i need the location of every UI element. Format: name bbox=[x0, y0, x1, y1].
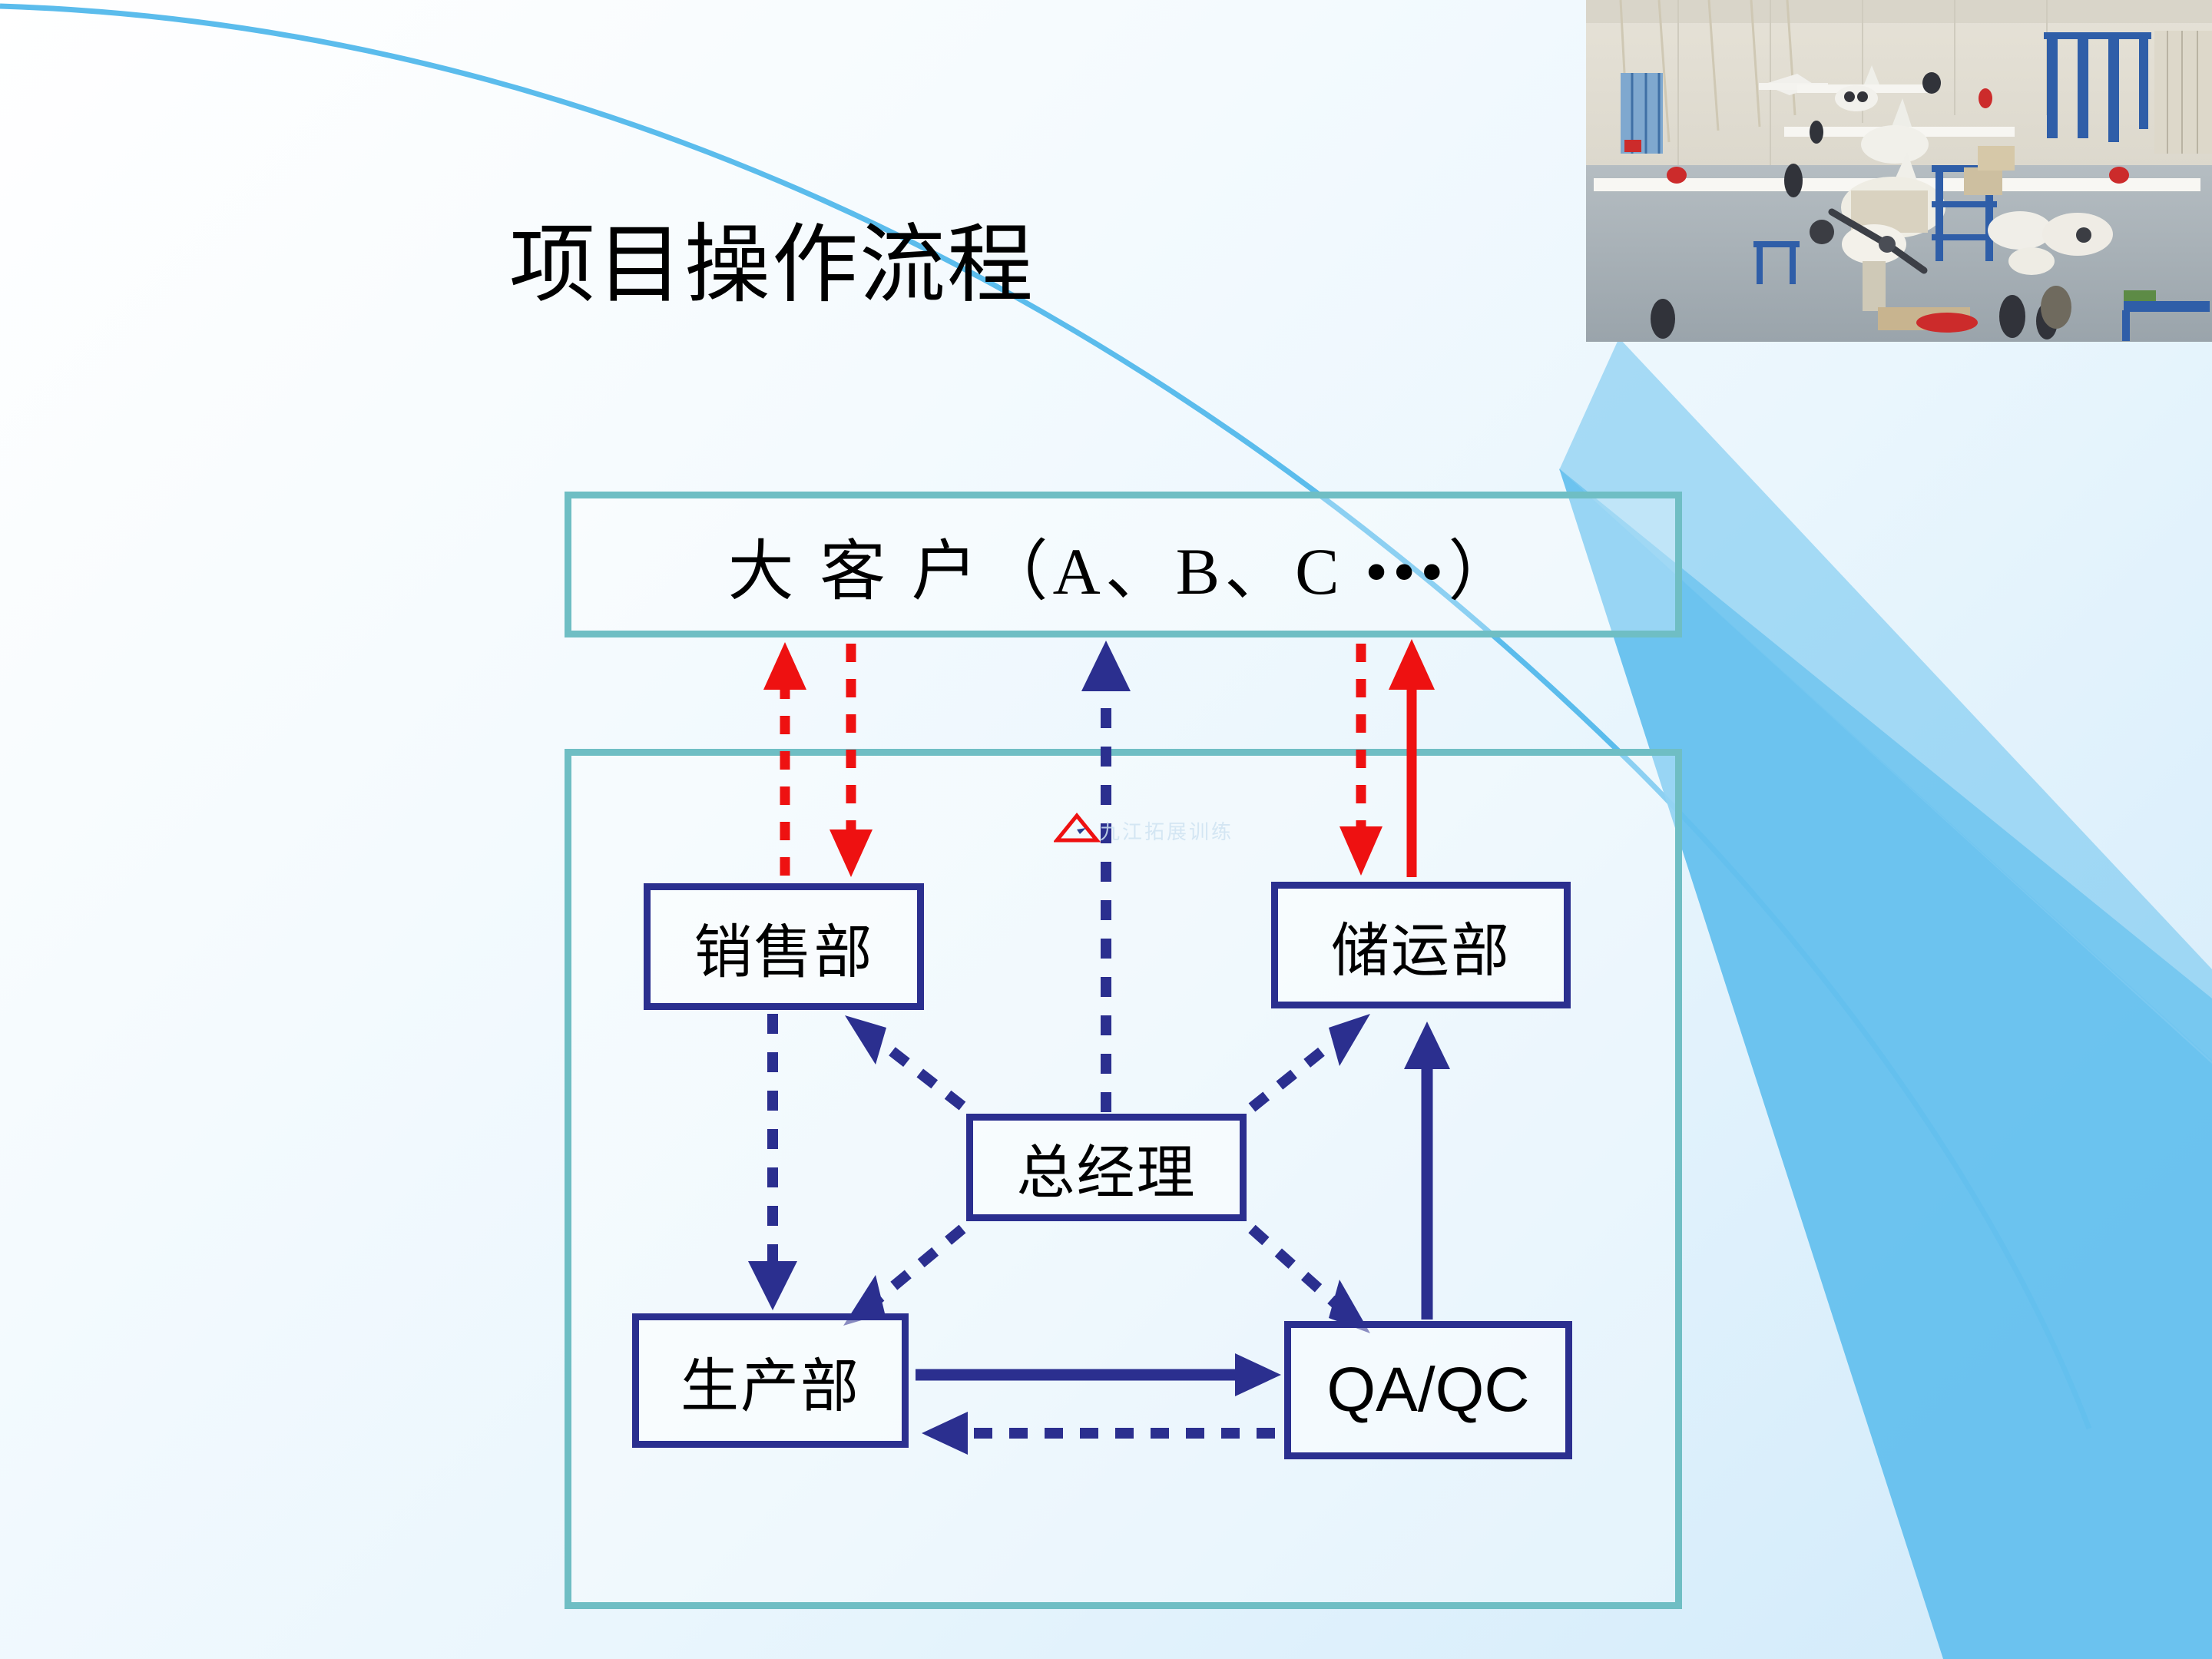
customer-label: 大 客 户（A、B、C •••） bbox=[565, 492, 1682, 637]
watermark-text: 九江拓展训练 bbox=[1100, 816, 1233, 845]
department-box-general-manager[interactable]: 总经理 bbox=[966, 1114, 1247, 1221]
department-box-logistics[interactable]: 储运部 bbox=[1271, 882, 1571, 1008]
department-box-production[interactable]: 生产部 bbox=[632, 1313, 909, 1448]
slide-title: 项目操作流程 bbox=[0, 223, 1544, 309]
slide-canvas: 项目操作流程 大 客 户（A、B、C •••） bbox=[0, 0, 2212, 1659]
department-box-sales[interactable]: 销售部 bbox=[644, 883, 924, 1010]
department-box-qaqc[interactable]: QA/QC bbox=[1284, 1321, 1572, 1459]
aircraft-hangar-photo bbox=[1586, 0, 2212, 342]
